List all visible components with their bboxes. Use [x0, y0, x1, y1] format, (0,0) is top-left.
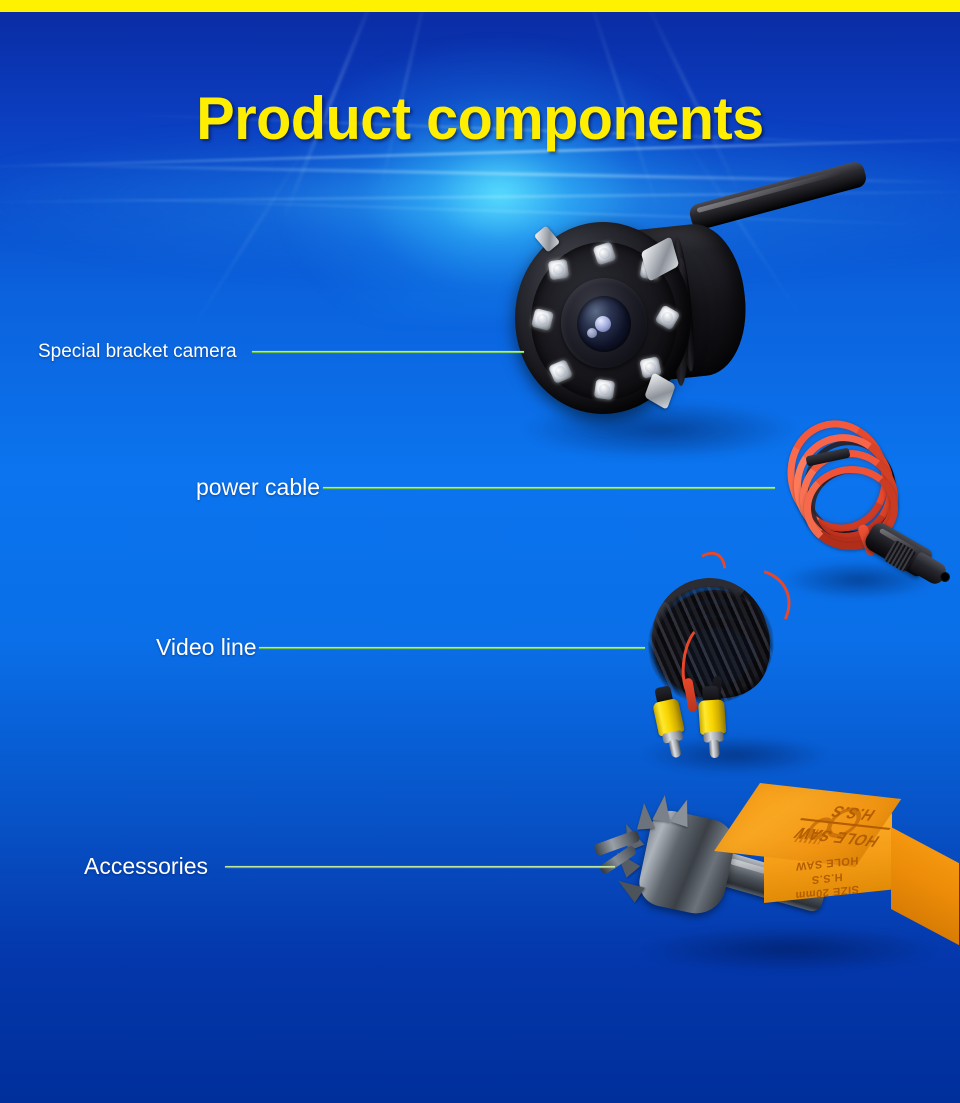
callout-camera: Special bracket camera — [38, 341, 524, 363]
rca-connector — [652, 698, 689, 760]
leader-line — [323, 487, 775, 489]
callout-label-power-cable: power cable — [196, 474, 320, 501]
camera-lens-glint — [587, 328, 597, 338]
rca-pin — [668, 739, 682, 759]
camera-led — [594, 379, 615, 400]
product-image-camera — [495, 200, 825, 440]
callout-label-video-line: Video line — [156, 634, 257, 661]
rca-body — [698, 699, 726, 735]
camera-led — [548, 259, 569, 280]
page-title: Product components — [19, 84, 941, 153]
leader-line — [252, 351, 524, 353]
hole-saw-tooth — [635, 802, 655, 829]
rca-pin — [709, 740, 720, 759]
leader-line — [225, 866, 615, 868]
product-image-accessories: HOLE SAW H.S.S SIZE 20mm H.S.S HOLE SAW — [620, 775, 950, 960]
yellow-accent-bar — [0, 0, 960, 12]
rca-connector — [698, 699, 728, 759]
leader-line — [259, 647, 645, 649]
callout-accessories: Accessories — [84, 853, 615, 880]
product-components-infographic: Product components Special bracket camer… — [0, 0, 960, 1103]
callout-label-camera: Special bracket camera — [38, 341, 237, 363]
callout-label-accessories: Accessories — [84, 853, 208, 880]
hole-saw-tooth — [652, 794, 673, 822]
camera-lens-glint — [595, 316, 611, 332]
hole-saw-box: HOLE SAW H.S.S SIZE 20mm H.S.S HOLE SAW — [760, 783, 950, 933]
box-side-text: SIZE 20mm H.S.S HOLE SAW — [768, 833, 886, 905]
callout-power-cable: power cable — [196, 474, 775, 501]
product-image-video-line — [630, 560, 840, 775]
callout-video-line: Video line — [156, 634, 645, 661]
box-face-front — [891, 827, 959, 945]
